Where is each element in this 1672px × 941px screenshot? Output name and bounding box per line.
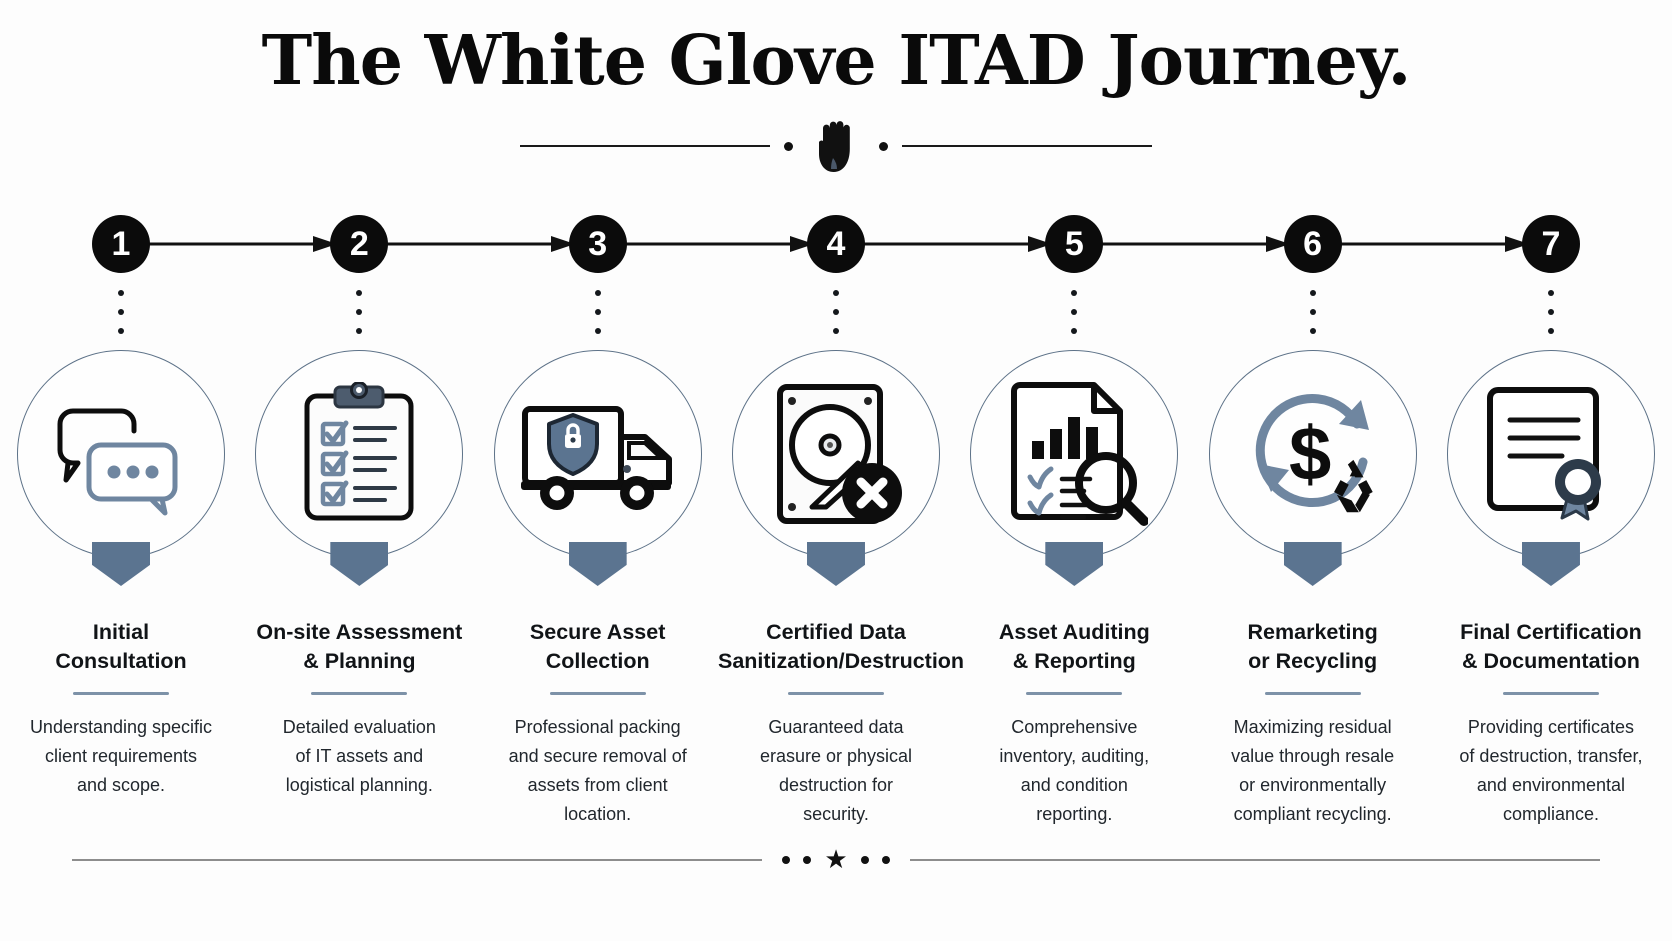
step-6-pointer [1284, 542, 1342, 586]
step-5[interactable]: 5 [965, 200, 1183, 829]
step-7-icon-circle[interactable] [1445, 348, 1657, 560]
report-magnifier-icon [1000, 379, 1148, 529]
step-4-dotted-connector [833, 288, 839, 348]
step-1-description: Understanding specific client requiremen… [3, 713, 239, 800]
step-1-icon-circle[interactable] [15, 348, 227, 560]
step-2-dotted-connector [356, 288, 362, 348]
step-4-icon-circle[interactable] [730, 348, 942, 560]
step-1-connector-arrow [149, 235, 339, 253]
step-2-icon-circle[interactable] [253, 348, 465, 560]
step-7-dotted-connector [1548, 288, 1554, 348]
footer-dot-4 [882, 856, 890, 864]
step-4-caption: Certified Data Sanitization/Destruction … [718, 618, 954, 829]
ornament-dot-right [879, 142, 888, 151]
footer-ornament: ★ [0, 847, 1672, 873]
footer-star-group: ★ [782, 847, 889, 873]
step-1[interactable]: 1 Initial Consultation Underst [12, 200, 230, 829]
step-4-description: Guaranteed data erasure or physical dest… [718, 713, 954, 830]
step-3-connector-arrow [626, 235, 816, 253]
step-4-connector-arrow [864, 235, 1054, 253]
step-3-divider [550, 692, 646, 695]
step-2-description: Detailed evaluation of IT assets and log… [241, 713, 477, 800]
recycle-dollar-icon: $ [1237, 384, 1389, 524]
step-2-divider [311, 692, 407, 695]
ornament-dot-left [784, 142, 793, 151]
step-3-description: Professional packing and secure removal … [480, 713, 716, 830]
page-title: The White Glove ITAD Journey. [0, 26, 1672, 97]
step-7[interactable]: 7 Final Certification & D [1442, 200, 1660, 829]
step-2-number-badge: 2 [330, 215, 388, 273]
step-5-icon-circle[interactable] [968, 348, 1180, 560]
header: The White Glove ITAD Journey. [0, 0, 1672, 181]
certificate-seal-icon [1478, 384, 1624, 524]
step-7-caption: Final Certification & Documentation Prov… [1433, 618, 1669, 829]
step-5-caption: Asset Auditing & Reporting Comprehensive… [956, 618, 1192, 829]
step-5-divider [1026, 692, 1122, 695]
footer-line-right [910, 859, 1600, 860]
hand-glove-icon [813, 111, 859, 175]
footer-dot-3 [861, 856, 869, 864]
step-3-dotted-connector [595, 288, 601, 348]
step-1-caption: Initial Consultation Understanding speci… [3, 618, 239, 800]
step-2-pointer [330, 542, 388, 586]
steps-row: 1 Initial Consultation Underst [0, 200, 1672, 829]
step-5-pointer [1045, 542, 1103, 586]
step-7-title: Final Certification & Documentation [1433, 618, 1669, 675]
step-4-number-badge: 4 [807, 215, 865, 273]
step-6-connector-arrow [1341, 235, 1531, 253]
step-5-number-badge: 5 [1045, 215, 1103, 273]
step-3[interactable]: 3 [489, 200, 707, 829]
step-6-icon-circle[interactable]: $ [1207, 348, 1419, 560]
step-6-divider [1265, 692, 1361, 695]
step-7-description: Providing certificates of destruction, t… [1433, 713, 1669, 830]
step-2[interactable]: 2 [250, 200, 468, 829]
step-7-divider [1503, 692, 1599, 695]
step-2-caption: On-site Assessment & Planning Detailed e… [241, 618, 477, 800]
title-ornament [516, 111, 1156, 181]
step-4-title: Certified Data Sanitization/Destruction [718, 618, 954, 675]
step-6-title: Remarketing or Recycling [1195, 618, 1431, 675]
step-1-pointer [92, 542, 150, 586]
star-icon: ★ [824, 846, 847, 872]
step-3-icon-circle[interactable] [492, 348, 704, 560]
step-5-connector-arrow [1102, 235, 1292, 253]
step-4[interactable]: 4 [727, 200, 945, 829]
step-1-dotted-connector [118, 288, 124, 348]
secure-truck-icon [517, 393, 679, 515]
ornament-line-left [520, 145, 770, 147]
step-1-badge-row: 1 [12, 200, 230, 288]
step-2-connector-arrow [387, 235, 577, 253]
step-6[interactable]: 6 $ [1204, 200, 1422, 829]
chat-bubbles-icon [46, 390, 196, 518]
step-4-divider [788, 692, 884, 695]
step-6-number-badge: 6 [1284, 215, 1342, 273]
step-3-pointer [569, 542, 627, 586]
step-3-caption: Secure Asset Collection Professional pac… [480, 618, 716, 829]
step-5-dotted-connector [1071, 288, 1077, 348]
step-7-pointer [1522, 542, 1580, 586]
footer-line-left [72, 859, 762, 860]
step-3-title: Secure Asset Collection [480, 618, 716, 675]
step-7-number-badge: 7 [1522, 215, 1580, 273]
svg-text:$: $ [1289, 412, 1331, 497]
step-1-divider [73, 692, 169, 695]
step-6-caption: Remarketing or Recycling Maximizing resi… [1195, 618, 1431, 829]
ornament-line-right [902, 145, 1152, 147]
step-5-description: Comprehensive inventory, auditing, and c… [956, 713, 1192, 830]
step-1-title: Initial Consultation [3, 618, 239, 675]
footer-dot-1 [782, 856, 790, 864]
step-3-number-badge: 3 [569, 215, 627, 273]
step-5-title: Asset Auditing & Reporting [956, 618, 1192, 675]
footer-dot-2 [803, 856, 811, 864]
step-6-dotted-connector [1310, 288, 1316, 348]
step-1-number-badge: 1 [92, 215, 150, 273]
clipboard-checklist-icon [293, 382, 425, 526]
step-6-description: Maximizing residual value through resale… [1195, 713, 1431, 830]
hard-drive-destruction-icon [766, 379, 906, 529]
step-2-title: On-site Assessment & Planning [241, 618, 477, 675]
step-4-pointer [807, 542, 865, 586]
